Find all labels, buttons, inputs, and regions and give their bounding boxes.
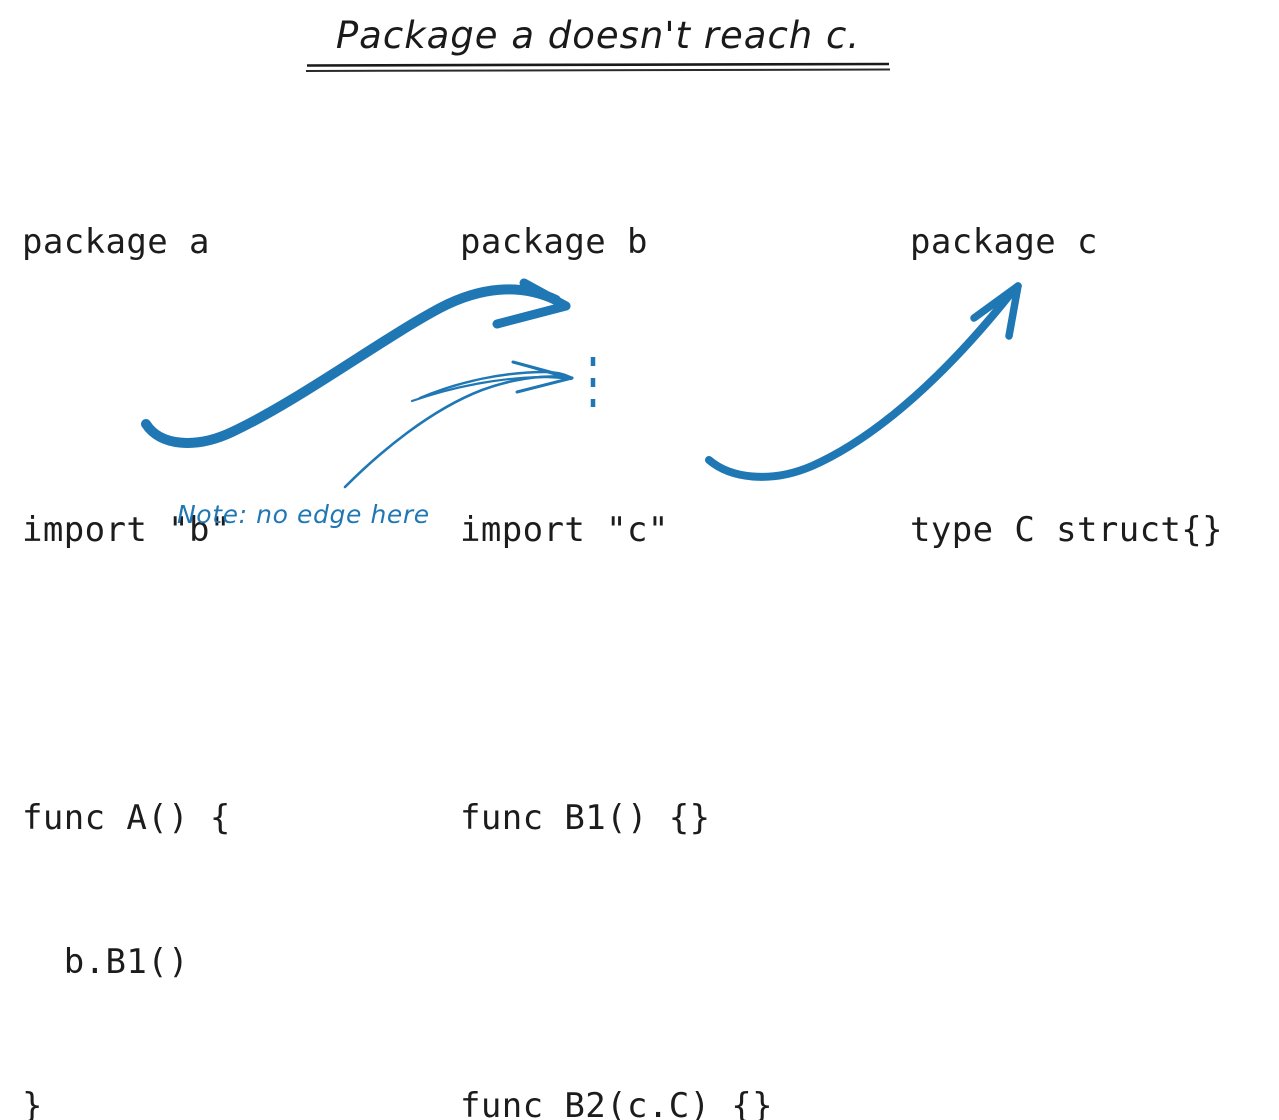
code-line: package b xyxy=(460,218,773,266)
diagram-canvas: Package a doesn't reach c. package a imp… xyxy=(0,0,1279,560)
code-line: } xyxy=(22,1082,231,1120)
title-underline xyxy=(306,64,890,71)
code-line: func B1() {} xyxy=(460,794,773,842)
code-line: type C struct{} xyxy=(910,506,1223,554)
code-line: func B2(c.C) {} xyxy=(460,1082,773,1120)
code-column-package-c: package c type C struct{} xyxy=(910,122,1223,650)
code-column-package-a: package a import "b" func A() { b.B1() } xyxy=(22,122,231,1120)
code-line: package c xyxy=(910,218,1223,266)
page-title-text: Package a doesn't reach c. xyxy=(306,14,890,58)
code-line-blank xyxy=(460,362,773,410)
note-annotation-text: Note: no edge here xyxy=(177,500,430,529)
code-line-blank xyxy=(22,650,231,698)
page-title: Package a doesn't reach c. xyxy=(306,14,890,58)
code-line: import "c" xyxy=(460,506,773,554)
code-line-blank xyxy=(22,362,231,410)
code-line: package a xyxy=(22,218,231,266)
code-line-blank xyxy=(460,650,773,698)
code-line: b.B1() xyxy=(22,938,231,986)
code-line: func A() { xyxy=(22,794,231,842)
code-line-blank xyxy=(910,362,1223,410)
code-column-package-b: package b import "c" func B1() {} func B… xyxy=(460,122,773,1120)
code-line-blank xyxy=(460,938,773,986)
